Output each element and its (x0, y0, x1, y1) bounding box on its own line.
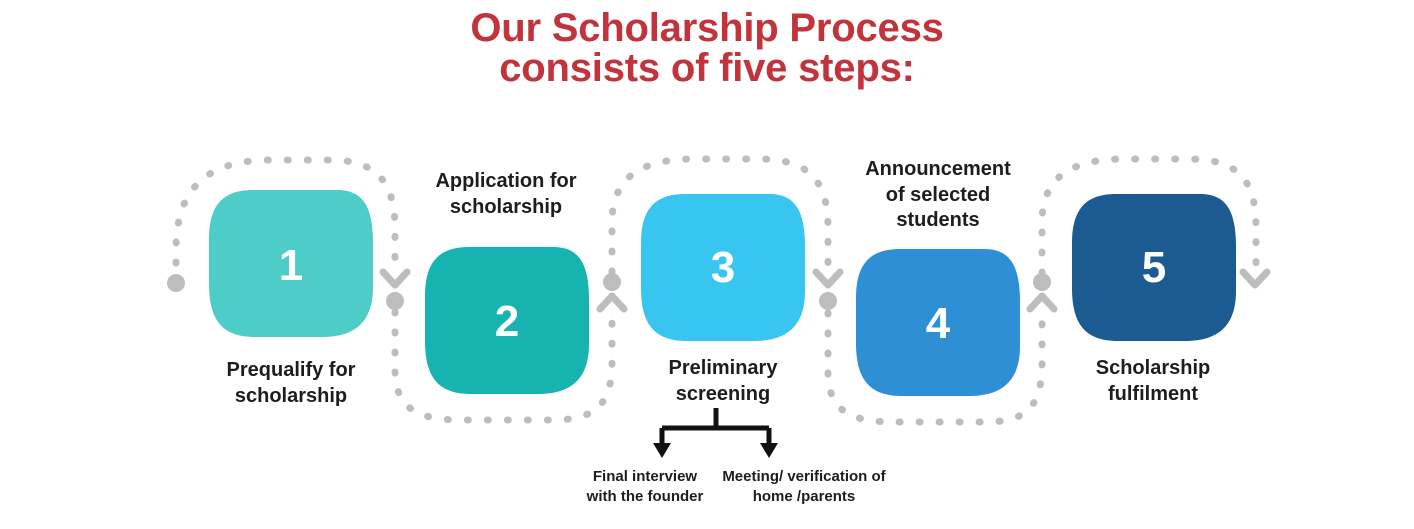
chevron-up-icon-2 (1030, 296, 1054, 309)
step-number-5: 5 (1094, 246, 1214, 290)
branch-arrowheads (653, 443, 778, 458)
branch-label-2: Meeting/ verification of home /parents (694, 467, 914, 506)
step-number-4: 4 (878, 302, 998, 346)
connector-node-1 (386, 292, 404, 310)
arrow-down-icon-left (653, 443, 671, 458)
step-number-2: 2 (447, 300, 567, 344)
step-label-4: Announcement of selected students (823, 157, 1053, 234)
step-label-3: Preliminary screening (608, 356, 838, 407)
step-label-2: Application for scholarship (391, 169, 621, 220)
step-label-5: Scholarship fulfilment (1038, 356, 1268, 407)
connector-node-2 (603, 273, 621, 291)
connector-node-3 (819, 292, 837, 310)
arrow-down-icon-right (760, 443, 778, 458)
infographic-canvas: Our Scholarship Process consists of five… (0, 0, 1414, 529)
chevron-down-icon-2 (816, 272, 840, 285)
connector-node-4 (1033, 273, 1051, 291)
branch-arrows (662, 408, 769, 444)
step-number-3: 3 (663, 246, 783, 290)
step-number-1: 1 (231, 244, 351, 288)
chevron-down-icon-3 (1243, 272, 1267, 285)
connector-node-start (167, 274, 185, 292)
chevron-up-icon-1 (600, 296, 624, 309)
chevron-down-icon-1 (383, 272, 407, 285)
step-label-1: Prequalify for scholarship (176, 358, 406, 409)
